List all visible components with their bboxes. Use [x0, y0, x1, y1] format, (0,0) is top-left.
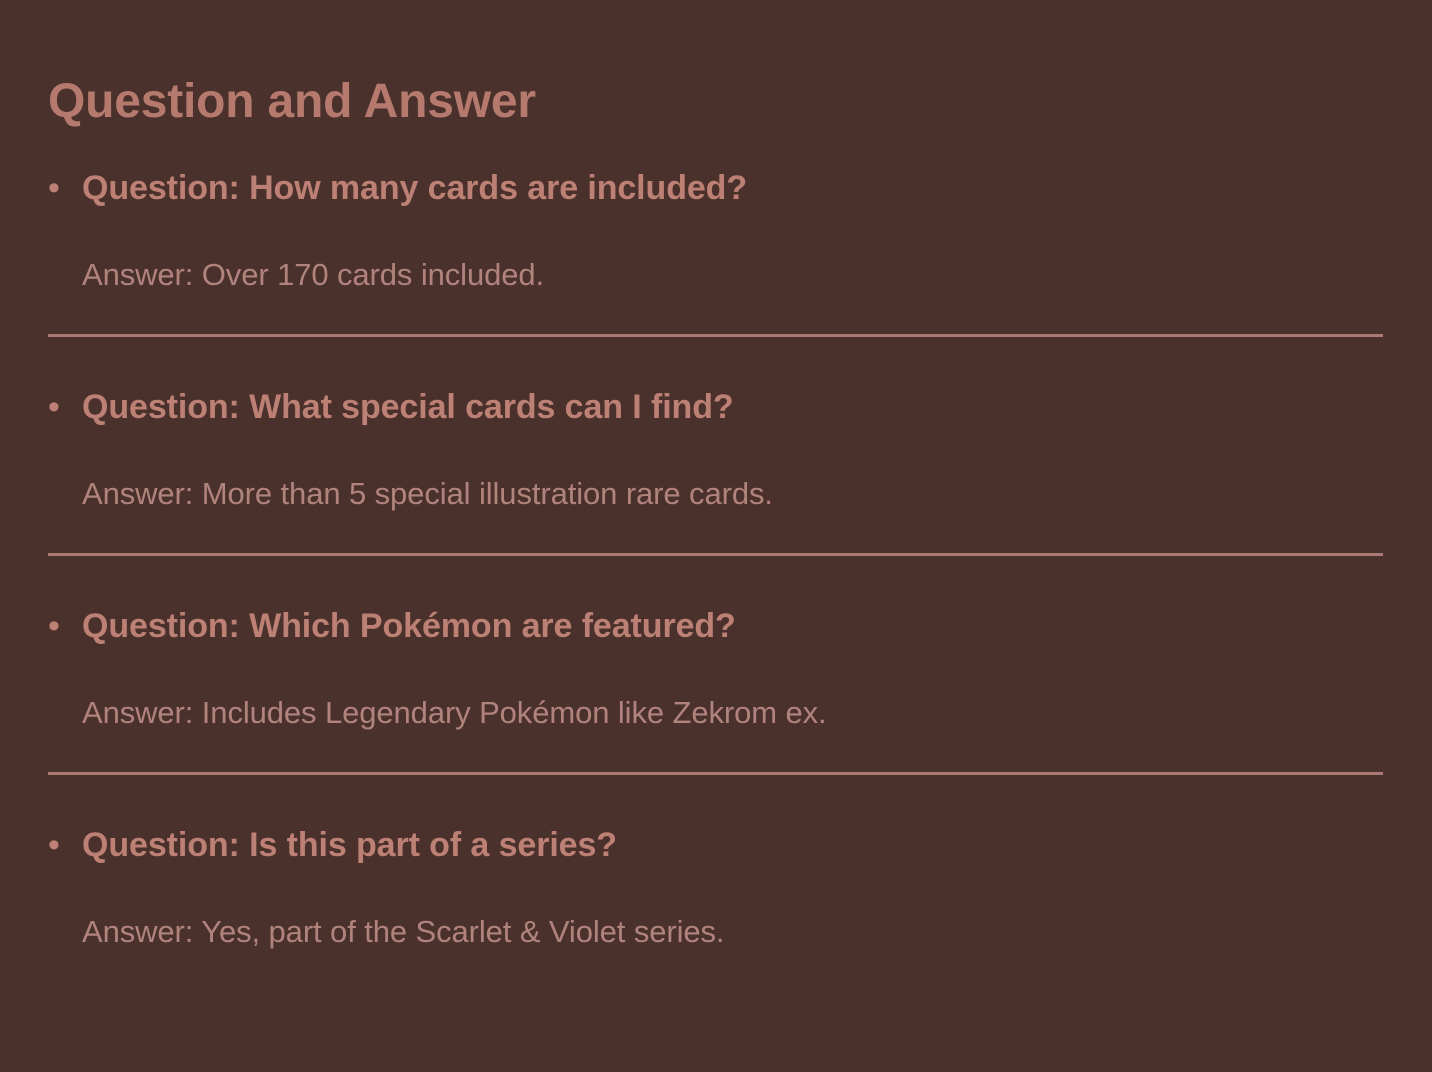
- qa-question-text: Question: Which Pokémon are featured?: [82, 600, 1432, 652]
- page-title: Question and Answer: [48, 73, 536, 131]
- qa-question-row: • Question: What special cards can I fin…: [0, 381, 1432, 433]
- qa-question-row: • Question: Which Pokémon are featured?: [0, 600, 1432, 652]
- qa-answer-text: Answer: Yes, part of the Scarlet & Viole…: [82, 911, 1432, 953]
- qa-question-row: • Question: Is this part of a series?: [0, 819, 1432, 871]
- qa-divider: [48, 334, 1383, 337]
- qa-answer-text: Answer: Includes Legendary Pokémon like …: [82, 692, 1432, 734]
- qa-spacer: [0, 564, 1432, 600]
- qa-question-text: Question: What special cards can I find?: [82, 381, 1432, 433]
- qa-item: • Question: How many cards are included?…: [0, 162, 1432, 381]
- qa-question-text: Question: Is this part of a series?: [82, 819, 1432, 871]
- qa-question-text: Question: How many cards are included?: [82, 162, 1432, 214]
- bullet-icon: •: [48, 819, 82, 871]
- qa-answer-text: Answer: Over 170 cards included.: [82, 254, 1432, 296]
- qa-item: • Question: What special cards can I fin…: [0, 381, 1432, 600]
- bullet-icon: •: [48, 600, 82, 652]
- qa-item: • Question: Which Pokémon are featured? …: [0, 600, 1432, 819]
- qa-divider: [48, 772, 1383, 775]
- bullet-icon: •: [48, 381, 82, 433]
- qa-list: • Question: How many cards are included?…: [0, 162, 1432, 953]
- qa-spacer: [0, 345, 1432, 381]
- qa-question-row: • Question: How many cards are included?: [0, 162, 1432, 214]
- qa-answer-text: Answer: More than 5 special illustration…: [82, 473, 1432, 515]
- bullet-icon: •: [48, 162, 82, 214]
- qa-slide: Question and Answer • Question: How many…: [0, 0, 1432, 1072]
- qa-spacer: [0, 783, 1432, 819]
- qa-divider: [48, 553, 1383, 556]
- qa-item: • Question: Is this part of a series? An…: [0, 819, 1432, 953]
